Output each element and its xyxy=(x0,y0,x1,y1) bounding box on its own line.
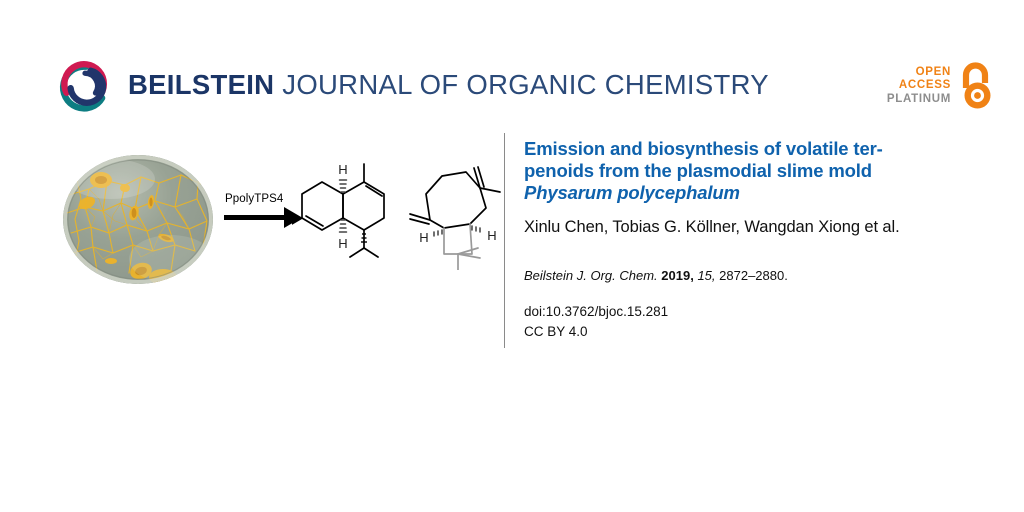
article-title-line2: penoids from the plasmodial slime mold xyxy=(524,160,872,181)
masthead: BEILSTEIN JOURNAL OF ORGANIC CHEMISTRY O… xyxy=(0,44,1024,126)
journal-subtitle: JOURNAL OF ORGANIC CHEMISTRY xyxy=(274,69,769,100)
article-doi[interactable]: doi:10.3762/bjoc.15.281 xyxy=(524,302,994,322)
graphical-abstract: PpolyTPS4 xyxy=(0,130,500,355)
journal-title: BEILSTEIN JOURNAL OF ORGANIC CHEMISTRY xyxy=(128,71,769,99)
article-authors: Xinlu Chen, Tobias G. Köllner, Wangdan X… xyxy=(524,218,994,238)
open-access-line-open: OPEN xyxy=(887,66,951,80)
article-title-species: Physarum polycephalum xyxy=(524,182,740,203)
petri-dish-image xyxy=(63,155,213,284)
open-access-badge: OPEN ACCESS PLATINUM xyxy=(887,58,998,114)
structure-h-label-bottom: H xyxy=(338,236,347,251)
citation-volume: 15, xyxy=(697,268,715,283)
article-title: Emission and biosynthesis of volatile te… xyxy=(524,138,994,204)
article-info: Emission and biosynthesis of volatile te… xyxy=(524,138,994,341)
article-citation: Beilstein J. Org. Chem. 2019, 15, 2872–2… xyxy=(524,268,994,284)
chemical-structure-caryophyllene: H H xyxy=(404,158,508,270)
open-lock-icon xyxy=(958,62,998,110)
chemical-structure-cadinene: H H xyxy=(292,158,394,270)
citation-pages: 2872–2880. xyxy=(719,268,788,283)
citation-journal: Beilstein J. Org. Chem. xyxy=(524,268,658,283)
beilstein-spiral-logo-icon xyxy=(56,57,114,115)
vertical-divider xyxy=(504,133,505,348)
article-title-line1: Emission and biosynthesis of volatile te… xyxy=(524,138,883,159)
structure-h-label-left: H xyxy=(419,230,428,245)
structure-h-label-right: H xyxy=(487,228,496,243)
open-access-line-platinum: PLATINUM xyxy=(887,93,951,107)
article-cover-page: BEILSTEIN JOURNAL OF ORGANIC CHEMISTRY O… xyxy=(0,0,1024,512)
open-access-line-access: ACCESS xyxy=(887,79,951,93)
journal-brand: BEILSTEIN xyxy=(128,69,274,100)
open-access-text: OPEN ACCESS PLATINUM xyxy=(887,66,951,107)
article-license[interactable]: CC BY 4.0 xyxy=(524,322,994,342)
citation-year: 2019, xyxy=(661,268,694,283)
structure-h-label-top: H xyxy=(338,162,347,177)
